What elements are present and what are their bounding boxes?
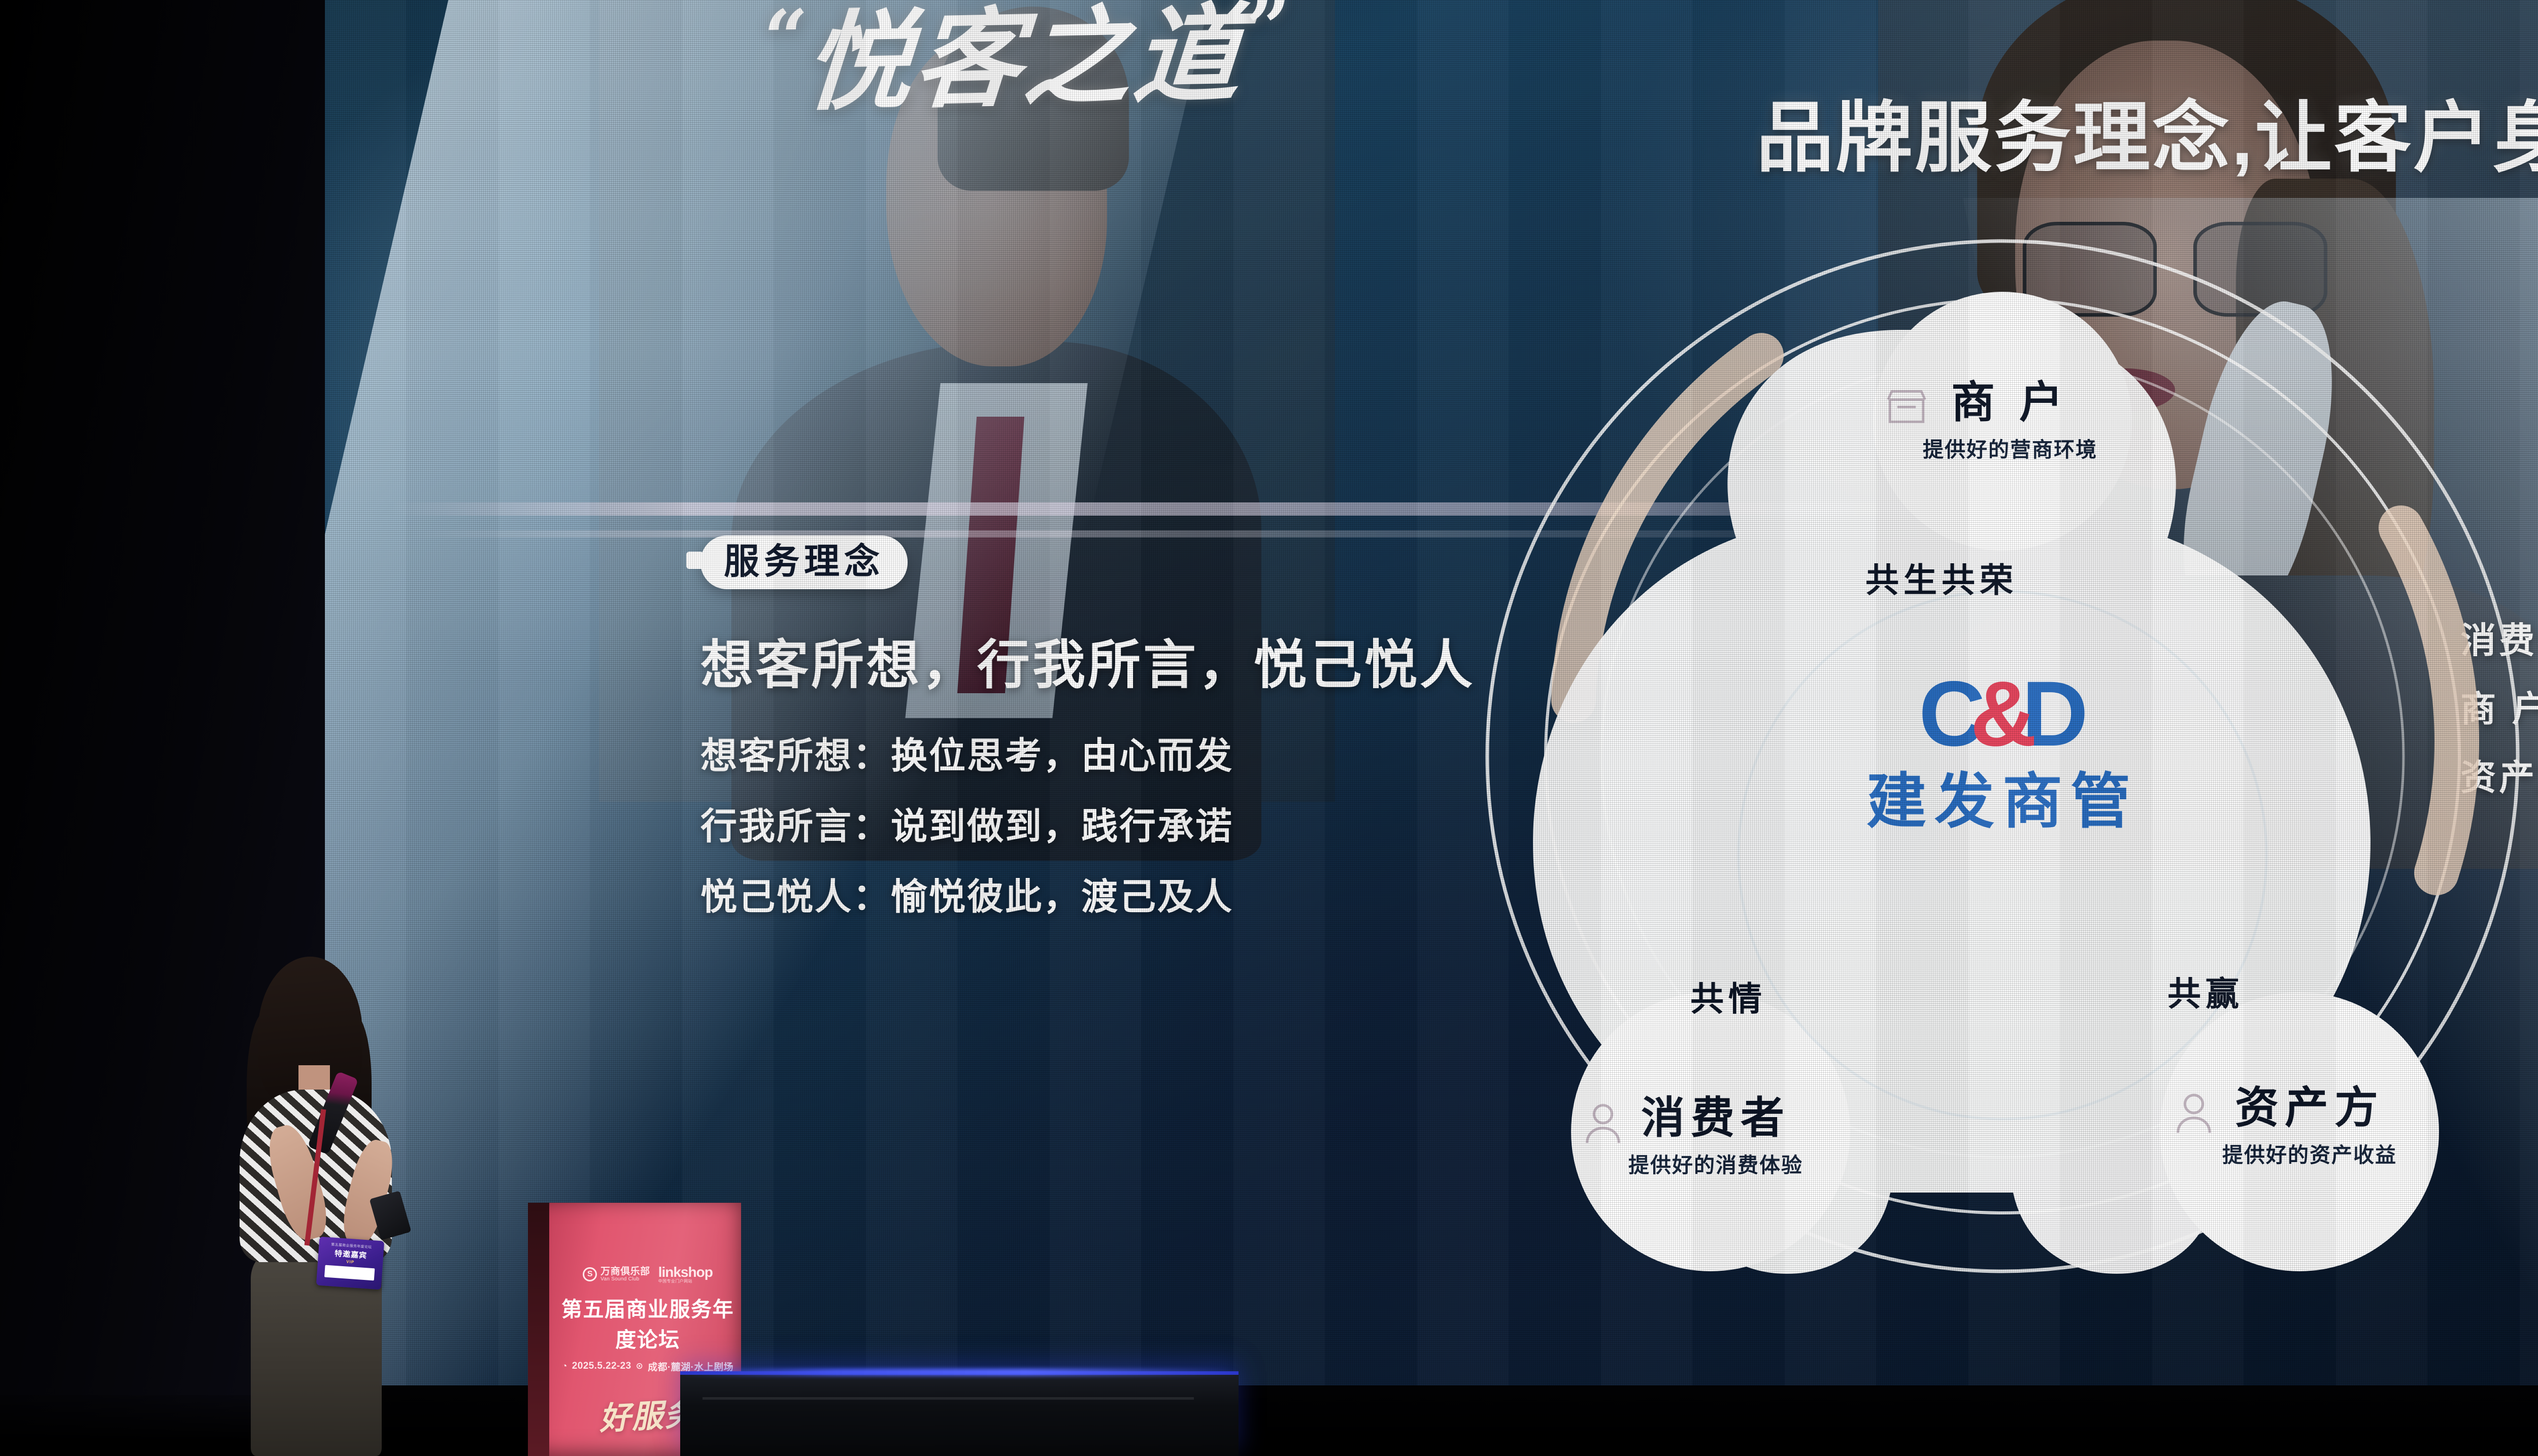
- page-subtitle: 品牌服务理念,让客户身心愉悦: [1756, 75, 2538, 187]
- monitor-edge-glow: [680, 1369, 1239, 1376]
- node-subtitle: 提供好的营商环境: [1853, 432, 2167, 463]
- location-pin-icon: ⊙: [636, 1361, 644, 1371]
- event-date: 2025.5.22-23: [572, 1361, 631, 1372]
- logo-lettermark: C&D: [1866, 667, 2139, 760]
- speaker-presenter: 第五届商业服务年度论坛 特邀嘉宾 VIP: [213, 957, 426, 1456]
- logo-ampersand: &: [1970, 662, 2034, 765]
- podium-sponsor-logos: S 万商俱乐部 Van Sound Club linkshop 中国专业门户网站: [554, 1265, 741, 1284]
- connector-label-top: 共生共荣: [1865, 553, 2018, 602]
- sponsor-name-en: Van Sound Club: [600, 1277, 650, 1282]
- service-concept-list: 想客所想：换位思考，由心而发 行我所言：说到做到，践行承诺 悦己悦人：愉悦彼此，…: [700, 726, 1475, 920]
- sponsor-logo-van-sound-club: S 万商俱乐部 Van Sound Club: [583, 1267, 650, 1282]
- clock-icon: ◔: [562, 1361, 567, 1371]
- badge-name-strip: [324, 1265, 375, 1281]
- node-subtitle: 提供好的消费体验: [1574, 1148, 1858, 1178]
- sponsor-wordmark: linkshop: [658, 1265, 713, 1279]
- ecosystem-trefoil-diagram: 商 户 提供好的营商环境 消费者 提供好的消费体验 资产方 提供好的资产收益: [1406, 203, 2538, 1299]
- sponsor-tagline: 中国专业门户网站: [658, 1279, 713, 1283]
- sponsor-name-cn: 万商俱乐部: [600, 1267, 650, 1277]
- page-title-brush: “悦客之道”: [757, 0, 1291, 117]
- service-concept-tag: 服务理念: [700, 535, 908, 589]
- list-item: 行我所言：说到做到，践行承诺: [700, 796, 1475, 850]
- close-quote: ”: [1242, 0, 1292, 73]
- stage-scene: “悦客之道” 品牌服务理念,让客户身心愉悦 服务理念 想客所想，行我所言，悦己悦…: [0, 0, 2538, 1456]
- person-icon: [1583, 1101, 1623, 1145]
- open-quote: “: [760, 0, 810, 83]
- list-item: 想客所想：换位思考，由心而发: [700, 726, 1475, 779]
- podium-side-panel: [528, 1203, 549, 1456]
- service-concept-block: 服务理念 想客所想，行我所言，悦己悦人 想客所想：换位思考，由心而发 行我所言：…: [700, 535, 1475, 937]
- event-title: 第五届商业服务年度论坛: [554, 1292, 741, 1353]
- speaker-vip-badge: 第五届商业服务年度论坛 特邀嘉宾 VIP: [316, 1237, 384, 1290]
- led-presentation-screen: “悦客之道” 品牌服务理念,让客户身心愉悦 服务理念 想客所想，行我所言，悦己悦…: [315, 0, 2538, 1385]
- sponsor-logo-linkshop: linkshop 中国专业门户网站: [658, 1265, 713, 1284]
- shop-icon: [1883, 387, 1930, 427]
- person-icon: [2174, 1091, 2214, 1135]
- monitor-bezel-ridge: [703, 1397, 1194, 1400]
- logo-chinese-name: 建发商管: [1866, 772, 2139, 832]
- service-concept-motto: 想客所想，行我所言，悦己悦人: [700, 622, 1475, 698]
- connector-label-right: 共赢: [2167, 967, 2244, 1015]
- list-item: 悦己悦人：愉悦彼此，渡己及人: [700, 867, 1475, 920]
- swirl-icon: S: [583, 1267, 597, 1281]
- connector-label-left: 共情: [1690, 972, 1766, 1021]
- page-title-text: 悦客之道: [801, 0, 1248, 125]
- node-subtitle: 提供好的资产收益: [2167, 1138, 2452, 1168]
- confidence-monitor: [680, 1371, 1239, 1456]
- brand-logo-cd: C&D 建发商管: [1866, 667, 2139, 832]
